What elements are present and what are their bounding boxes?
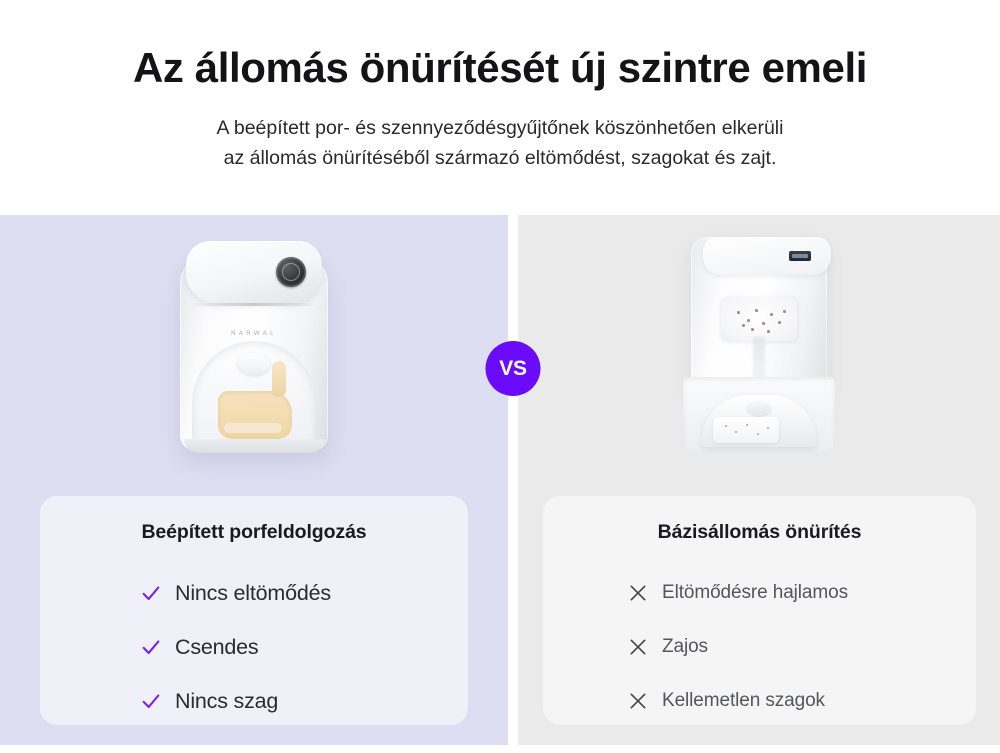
left-feature-list: Nincs eltömődés Csendes (40, 566, 468, 728)
page-title: Az állomás önürítését új szintre emeli (0, 44, 1000, 91)
competitor-base-station-image (683, 237, 835, 459)
list-item-label: Zajos (662, 636, 708, 658)
list-item-label: Nincs szag (175, 689, 278, 714)
left-card-title: Beépített porfeldolgozás (40, 496, 468, 544)
list-item-label: Eltömődésre hajlamos (662, 582, 848, 604)
page-subtitle: A beépített por- és szennyeződésgyűjtőne… (0, 113, 1000, 173)
station-base (184, 439, 324, 453)
right-feature-list: Eltömődésre hajlamos Zajos (543, 566, 976, 728)
station-lid (186, 241, 322, 303)
panel-divider (508, 215, 518, 745)
list-item: Nincs eltömődés (40, 566, 468, 620)
check-icon (140, 690, 162, 712)
list-item: Csendes (40, 620, 468, 674)
x-icon (628, 691, 648, 711)
page-subtitle-line-1: A beépített por- és szennyeződésgyűjtőne… (0, 113, 1000, 143)
list-item-label: Nincs eltömődés (175, 581, 331, 606)
page-subtitle-line-2: az állomás önürítéséből származó eltömőd… (0, 143, 1000, 173)
list-item: Nincs szag (40, 674, 468, 728)
left-comparison-panel: NARWAL Beépített porfeldolgozás (0, 215, 508, 745)
list-item-label: Csendes (175, 635, 258, 660)
right-feature-card: Bázisállomás önürítés Eltömődésre hajlam… (543, 496, 976, 725)
page-header: Az állomás önürítését új szintre emeli A… (0, 0, 1000, 173)
right-comparison-panel: Bázisállomás önürítés Eltömődésre hajlam… (518, 215, 1000, 745)
product-brand-label: NARWAL (180, 331, 328, 337)
list-item: Kellemetlen szagok (543, 674, 976, 728)
right-product-stage (518, 215, 1000, 497)
x-icon (628, 637, 648, 657)
narwal-base-station-image: NARWAL (180, 241, 328, 451)
check-icon (140, 636, 162, 658)
list-item-label: Kellemetlen szagok (662, 690, 825, 712)
list-item: Eltömődésre hajlamos (543, 566, 976, 620)
dust-bag (721, 297, 797, 341)
station-seam (188, 303, 320, 306)
right-card-title: Bázisállomás önürítés (543, 496, 976, 544)
debris-patch (713, 417, 779, 443)
comparison-page: Az állomás önürítését új szintre emeli A… (0, 0, 1000, 753)
check-icon (140, 582, 162, 604)
comparison-band: NARWAL Beépített porfeldolgozás (0, 215, 1000, 745)
left-feature-card: Beépített porfeldolgozás Nincs eltömődés (40, 496, 468, 725)
x-icon (628, 583, 648, 603)
competitor-badge-icon (789, 251, 811, 261)
station-dial-icon (276, 257, 306, 287)
left-product-stage: NARWAL (0, 215, 508, 497)
list-item: Zajos (543, 620, 976, 674)
station-cap (238, 353, 270, 375)
station-mop (218, 391, 292, 439)
competitor-lid (703, 237, 831, 275)
vs-badge: VS (486, 341, 541, 396)
